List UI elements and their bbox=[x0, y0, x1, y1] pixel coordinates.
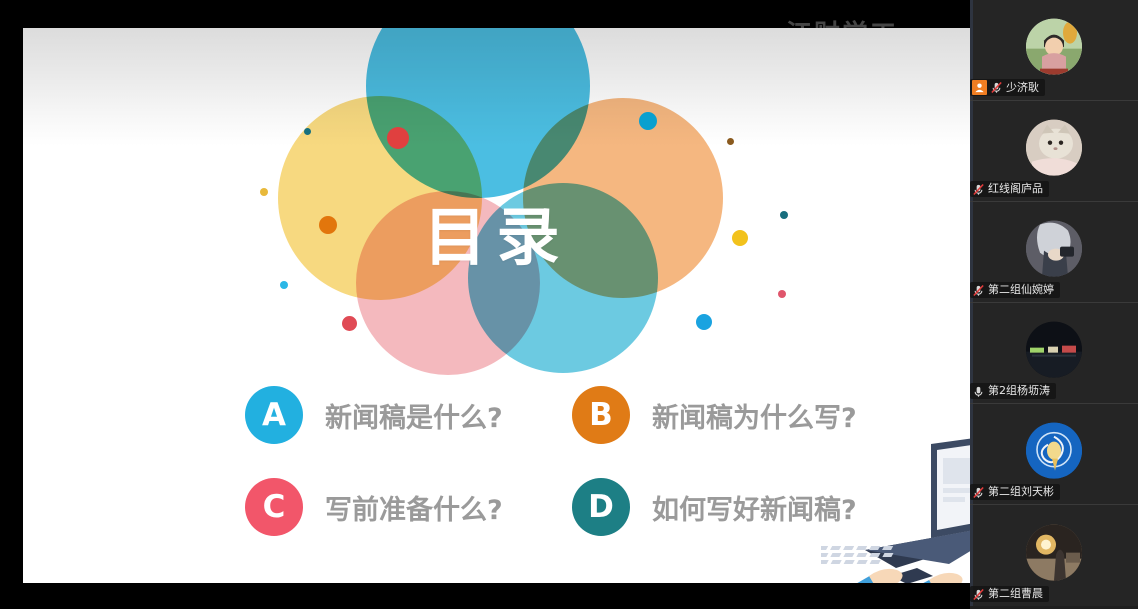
avatar bbox=[1026, 322, 1082, 378]
participant-tile[interactable]: 红线阁庐品 bbox=[970, 101, 1138, 202]
participant-tile[interactable]: 少济耿 bbox=[970, 0, 1138, 101]
participant-tile[interactable]: 第二组刘天彬 bbox=[970, 404, 1138, 505]
avatar bbox=[1026, 120, 1082, 176]
dot-blue-topright bbox=[639, 112, 657, 130]
participant-name: 第2组杨坜涛 bbox=[988, 384, 1050, 398]
participant-name: 少济耿 bbox=[1006, 81, 1039, 95]
zoom-meeting-window: 江财学工 目录 A新闻稿是什么?B新闻稿为什么写?C写前准备什么?D如何写好新闻… bbox=[0, 0, 1138, 609]
host-icon bbox=[972, 80, 987, 95]
participant-nameplate: 第二组曹晨 bbox=[970, 586, 1049, 602]
dot-red-bottom bbox=[342, 316, 357, 331]
participant-name: 第二组曹晨 bbox=[988, 587, 1043, 601]
participant-nameplate: 红线阁庐品 bbox=[970, 181, 1049, 197]
microphone-muted-icon bbox=[990, 81, 1003, 94]
avatar bbox=[1026, 221, 1082, 277]
agenda-badge-b: B bbox=[572, 386, 630, 444]
agenda-item-b[interactable]: B新闻稿为什么写? bbox=[572, 386, 857, 444]
agenda-badge-c: C bbox=[245, 478, 303, 536]
agenda-badge-d: D bbox=[572, 478, 630, 536]
dot-blue-bottom bbox=[696, 314, 712, 330]
participant-tile[interactable]: 第二组仙婉婷 bbox=[970, 202, 1138, 303]
microphone-muted-icon bbox=[972, 284, 985, 297]
agenda-item-a[interactable]: A新闻稿是什么? bbox=[245, 386, 503, 444]
avatar bbox=[1026, 524, 1082, 580]
participant-nameplate: 第2组杨坜涛 bbox=[970, 383, 1056, 399]
agenda-badge-a: A bbox=[245, 386, 303, 444]
dot-pink-right bbox=[778, 290, 786, 298]
participant-tile[interactable]: 第二组曹晨 bbox=[970, 505, 1138, 606]
microphone-muted-icon bbox=[972, 486, 985, 499]
avatar bbox=[1026, 423, 1082, 479]
participant-sidebar[interactable]: 少济耿 红线阁庐品 第二组仙婉婷 第2组杨坜涛 第二组刘天彬 bbox=[970, 0, 1138, 609]
participant-nameplate: 第二组刘天彬 bbox=[970, 484, 1060, 500]
dot-brown-tiny bbox=[727, 138, 734, 145]
participant-tile[interactable]: 第2组杨坜涛 bbox=[970, 303, 1138, 404]
microphone-muted-icon bbox=[972, 588, 985, 601]
laptop-typing-illustration bbox=[821, 426, 970, 583]
presentation-slide[interactable]: 目录 A新闻稿是什么?B新闻稿为什么写?C写前准备什么?D如何写好新闻稿? bbox=[23, 28, 970, 583]
dot-cyan-left bbox=[280, 281, 288, 289]
microphone-icon bbox=[972, 385, 985, 398]
avatar bbox=[1026, 19, 1082, 75]
shared-screen-stage[interactable]: 江财学工 目录 A新闻稿是什么?B新闻稿为什么写?C写前准备什么?D如何写好新闻… bbox=[0, 0, 970, 609]
dot-red-large bbox=[387, 127, 409, 149]
participant-name: 红线阁庐品 bbox=[988, 182, 1043, 196]
agenda-label-a: 新闻稿是什么? bbox=[325, 396, 503, 435]
microphone-muted-icon bbox=[972, 183, 985, 196]
participant-nameplate: 少济耿 bbox=[970, 79, 1045, 96]
slide-title: 目录 bbox=[23, 206, 970, 269]
decorative-dot-group bbox=[23, 28, 970, 368]
dot-yellow-left bbox=[260, 188, 268, 196]
agenda-item-c[interactable]: C写前准备什么? bbox=[245, 478, 503, 536]
participant-name: 第二组仙婉婷 bbox=[988, 283, 1054, 297]
dot-teal-small bbox=[304, 128, 311, 135]
agenda-item-d[interactable]: D如何写好新闻稿? bbox=[572, 478, 857, 536]
agenda-label-c: 写前准备什么? bbox=[325, 488, 503, 527]
participant-name: 第二组刘天彬 bbox=[988, 485, 1054, 499]
participant-nameplate: 第二组仙婉婷 bbox=[970, 282, 1060, 298]
